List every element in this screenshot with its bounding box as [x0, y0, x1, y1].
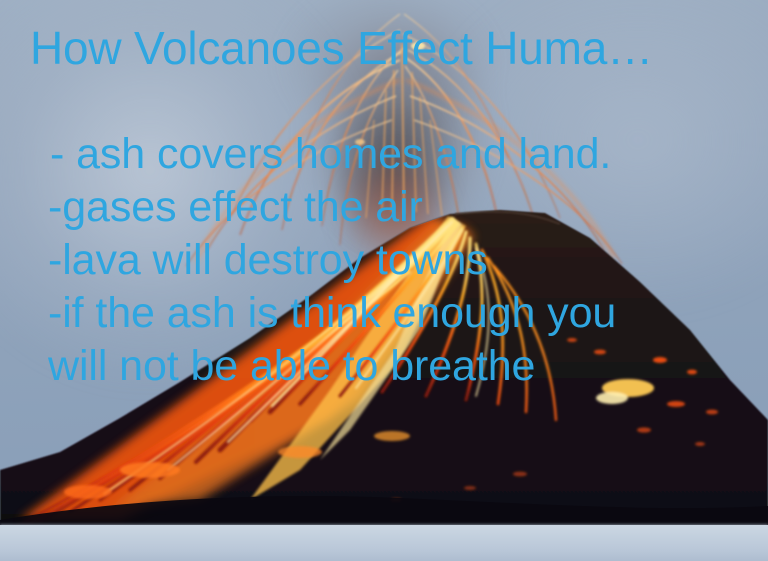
- bullet-item-5[interactable]: will not be able to breathe: [48, 340, 748, 393]
- bullet-item-4[interactable]: -if the ash is think enough you: [48, 287, 748, 340]
- slide-title[interactable]: How Volcanoes Effect Huma…: [30, 22, 760, 74]
- slide-text-layer: How Volcanoes Effect Huma… - ash covers …: [0, 0, 768, 561]
- slide-bullet-list[interactable]: - ash covers homes and land. -gases effe…: [48, 128, 748, 393]
- bullet-item-2[interactable]: -gases effect the air: [48, 181, 748, 234]
- presentation-slide: How Volcanoes Effect Huma… - ash covers …: [0, 0, 768, 561]
- bullet-item-3[interactable]: -lava will destroy towns: [48, 234, 748, 287]
- bullet-item-1[interactable]: - ash covers homes and land.: [50, 128, 748, 181]
